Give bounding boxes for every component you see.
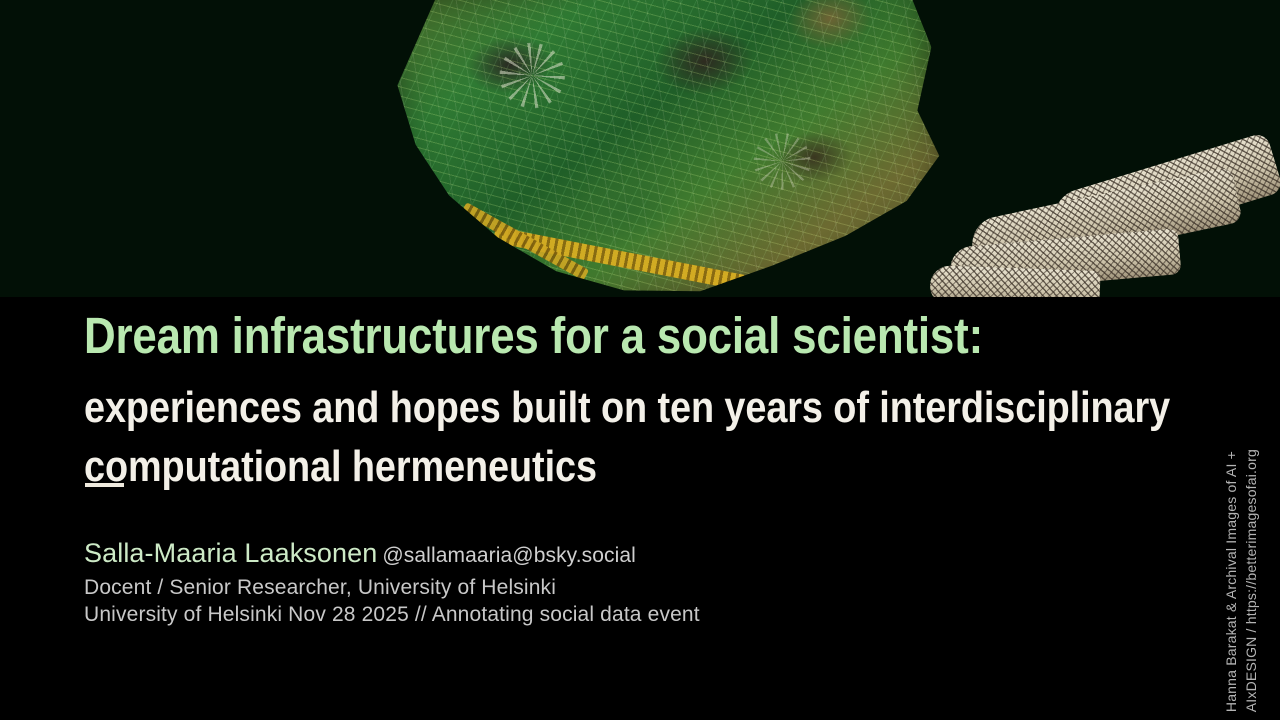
author-byline-block: Salla-Maaria Laaksonen@sallamaaria@bsky.… [84, 540, 1084, 629]
author-social-handle: @sallamaaria@bsky.social [382, 544, 636, 567]
chip-components-texture [381, 0, 958, 297]
slide-text-content: Dream infrastructures for a social scien… [0, 297, 1280, 720]
author-name-row: Salla-Maaria Laaksonen@sallamaaria@bsky.… [84, 540, 1084, 567]
circuit-board-collage-artwork [0, 0, 1280, 297]
slide-title-secondary: experiences and hopes built on ten years… [84, 379, 1219, 496]
slide-title-primary: Dream infrastructures for a social scien… [84, 309, 983, 362]
event-details: University of Helsinki Nov 28 2025 // An… [84, 601, 1084, 628]
image-credit-line-1: Hanna Barakat & Archival Images of AI + [1224, 451, 1238, 712]
circuit-board-fragment-icon [381, 0, 958, 297]
accent-rule-divider [85, 483, 124, 487]
author-role: Docent / Senior Researcher, University o… [84, 574, 1084, 601]
image-credit-block: Hanna Barakat & Archival Images of AI + … [1218, 297, 1280, 720]
hand-thumb-icon [929, 265, 1100, 297]
image-credit-line-2: AIxDESIGN / https://betterimagesofai.org [1244, 449, 1258, 712]
presentation-slide: Dream infrastructures for a social scien… [0, 0, 1280, 720]
engraved-hand-illustration [930, 150, 1260, 297]
hero-image-band [0, 0, 1280, 297]
author-name: Salla-Maaria Laaksonen [84, 538, 377, 568]
